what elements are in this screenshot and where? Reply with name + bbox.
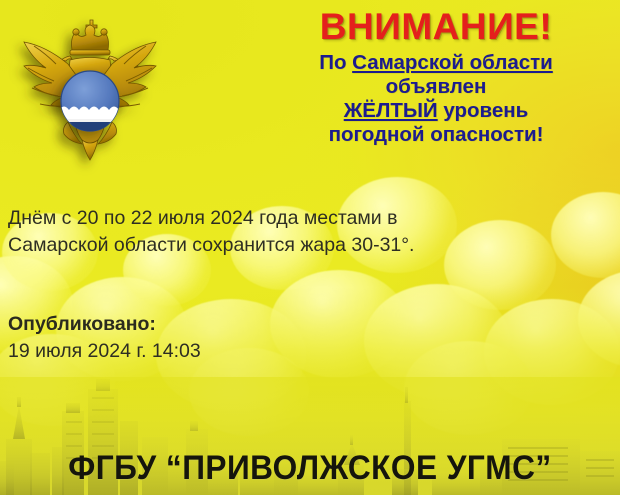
announce-line-3: ЖЁЛТЫЙ уровень: [258, 99, 614, 123]
forecast-line-2: Самарской области сохранится жара 30-31°…: [8, 232, 568, 259]
announce-line-1-prefix: По: [319, 51, 352, 74]
announce-line-2: объявлен: [258, 75, 614, 99]
announce-line-1: По Самарской области: [258, 51, 614, 75]
publication-block: Опубликовано: 19 июля 2024 г. 14:03: [8, 311, 568, 364]
weather-warning-poster: ВНИМАНИЕ! По Самарской области объявлен …: [0, 0, 620, 495]
organization-wordmark: ФГБУ “ПРИВОЛЖСКОЕ УГМС”: [22, 449, 599, 488]
published-label: Опубликовано:: [8, 311, 568, 338]
region-link: Самарской области: [352, 51, 553, 74]
published-datetime: 19 июля 2024 г. 14:03: [8, 338, 568, 365]
yellow-level-emphasis: ЖЁЛТЫЙ: [344, 99, 438, 122]
forecast-line-1: Днём с 20 по 22 июля 2024 года местами в: [8, 205, 568, 232]
announce-line-3-suffix: уровень: [438, 99, 529, 122]
body-copy: Днём с 20 по 22 июля 2024 года местами в…: [8, 205, 568, 364]
announcement-text: По Самарской области объявлен ЖЁЛТЫЙ уро…: [258, 51, 614, 147]
attention-heading: ВНИМАНИЕ!: [258, 8, 614, 46]
announce-line-4: погодной опасности!: [258, 123, 614, 147]
header-block: ВНИМАНИЕ! По Самарской области объявлен …: [258, 8, 614, 147]
roshydromet-eagle-emblem-icon: [6, 6, 174, 178]
